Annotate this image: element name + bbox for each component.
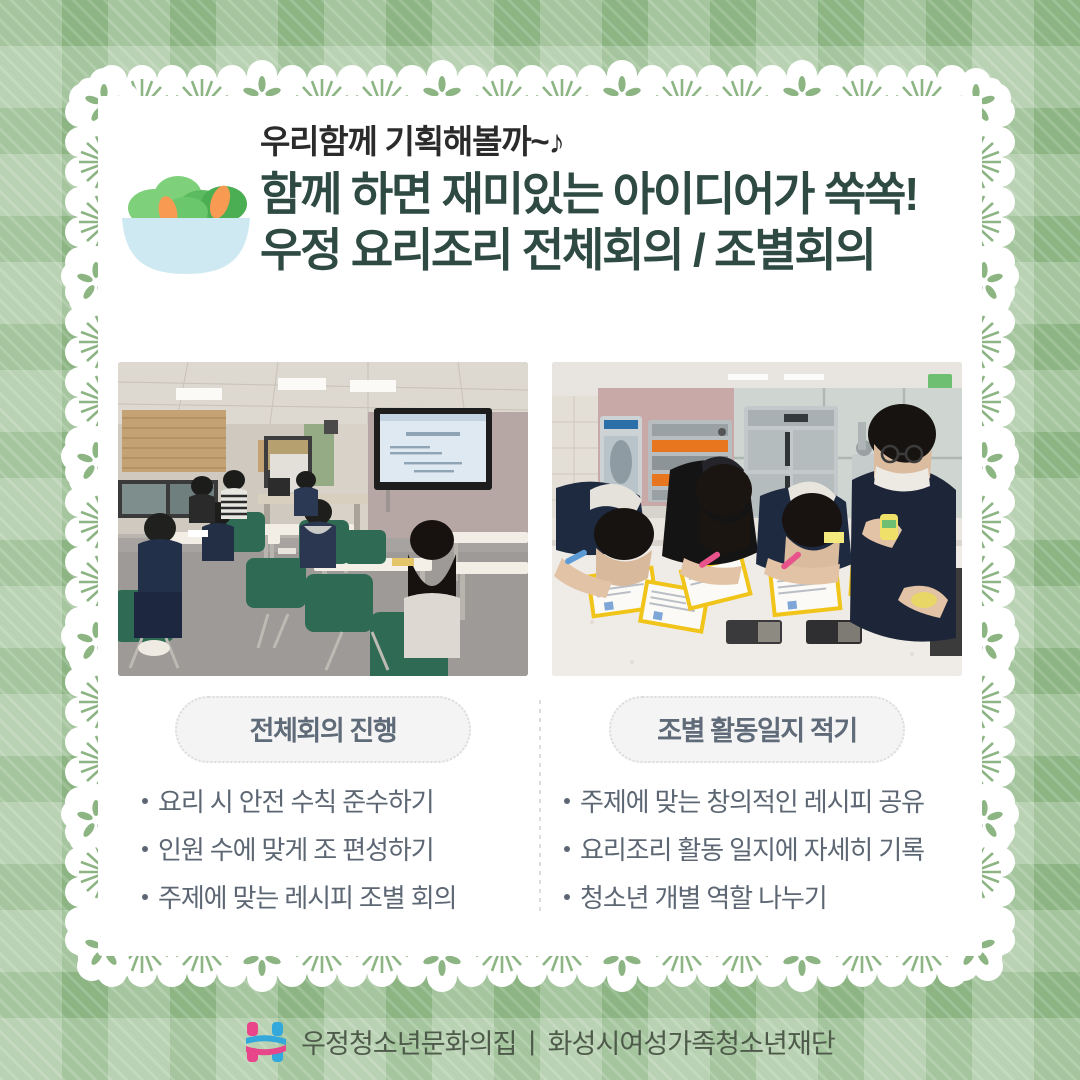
page-background: 우리함께 기획해볼까~♪ 함께 하면 재미있는 아이디어가 쏙쏙! 우정 요리조…: [0, 0, 1080, 1080]
column-full-meeting: 전체회의 진행 요리 시 안전 수칙 준수하기 인원 수에 맞게 조 편성하기 …: [118, 696, 528, 933]
list-item: 요리 시 안전 수칙 준수하기: [142, 789, 528, 815]
bullet-dot-icon: [564, 798, 570, 804]
photo-meeting-room: [118, 362, 528, 676]
list-item-label: 인원 수에 맞게 조 편성하기: [158, 837, 434, 863]
footer-separator: |: [529, 1026, 536, 1057]
bullet-dot-icon: [142, 798, 148, 804]
footer-org-secondary: 화성시여성가족청소년재단: [548, 1022, 835, 1061]
list-item: 인원 수에 맞게 조 편성하기: [142, 837, 528, 863]
photo-kitchen-worksheet-image: [552, 362, 962, 676]
list-item-label: 주제에 맞는 레시피 조별 회의: [158, 885, 456, 911]
list-item: 주제에 맞는 레시피 조별 회의: [142, 885, 528, 911]
bullet-list-full-meeting: 요리 시 안전 수칙 준수하기 인원 수에 맞게 조 편성하기 주제에 맞는 레…: [118, 789, 528, 911]
list-item-label: 청소년 개별 역할 나누기: [580, 885, 827, 911]
photo-meeting-room-image: [118, 362, 528, 676]
list-item-label: 요리조리 활동 일지에 자세히 기록: [580, 837, 924, 863]
foundation-logo-icon: [245, 1018, 287, 1064]
column-divider: [539, 700, 541, 912]
list-item-label: 주제에 맞는 창의적인 레시피 공유: [580, 789, 924, 815]
two-column-section: 전체회의 진행 요리 시 안전 수칙 준수하기 인원 수에 맞게 조 편성하기 …: [118, 696, 962, 926]
bullet-dot-icon: [142, 846, 148, 852]
footer-org-primary: 우정청소년문화의집: [301, 1022, 516, 1061]
bullet-dot-icon: [564, 894, 570, 900]
pill-label-group-journal: 조별 활동일지 적기: [609, 696, 905, 763]
list-item-label: 요리 시 안전 수칙 준수하기: [158, 789, 434, 815]
photo-row: [118, 362, 962, 680]
header-kicker: 우리함께 기획해볼까~♪: [260, 124, 972, 160]
footer: 우정청소년문화의집 | 화성시여성가족청소년재단: [0, 1010, 1080, 1072]
pill-label-full-meeting: 전체회의 진행: [175, 696, 471, 763]
title-block: 우리함께 기획해볼까~♪ 함께 하면 재미있는 아이디어가 쏙쏙! 우정 요리조…: [260, 124, 972, 279]
list-item: 청소년 개별 역할 나누기: [564, 885, 962, 911]
list-item: 주제에 맞는 창의적인 레시피 공유: [564, 789, 962, 815]
list-item: 요리조리 활동 일지에 자세히 기록: [564, 837, 962, 863]
bullet-list-group-journal: 주제에 맞는 창의적인 레시피 공유 요리조리 활동 일지에 자세히 기록 청소…: [552, 789, 962, 911]
bullet-dot-icon: [564, 846, 570, 852]
header-section: 우리함께 기획해볼까~♪ 함께 하면 재미있는 아이디어가 쏙쏙! 우정 요리조…: [98, 96, 982, 326]
salad-bowl-icon: [116, 158, 256, 276]
content-card: 우리함께 기획해볼까~♪ 함께 하면 재미있는 아이디어가 쏙쏙! 우정 요리조…: [98, 96, 982, 956]
column-group-journal: 조별 활동일지 적기 주제에 맞는 창의적인 레시피 공유 요리조리 활동 일지…: [552, 696, 962, 933]
bullet-dot-icon: [142, 894, 148, 900]
photo-kitchen-worksheet: [552, 362, 962, 676]
header-title-line-2: 우정 요리조리 전체회의 / 조별회의: [260, 222, 972, 278]
header-title-line-1: 함께 하면 재미있는 아이디어가 쏙쏙!: [260, 166, 972, 222]
